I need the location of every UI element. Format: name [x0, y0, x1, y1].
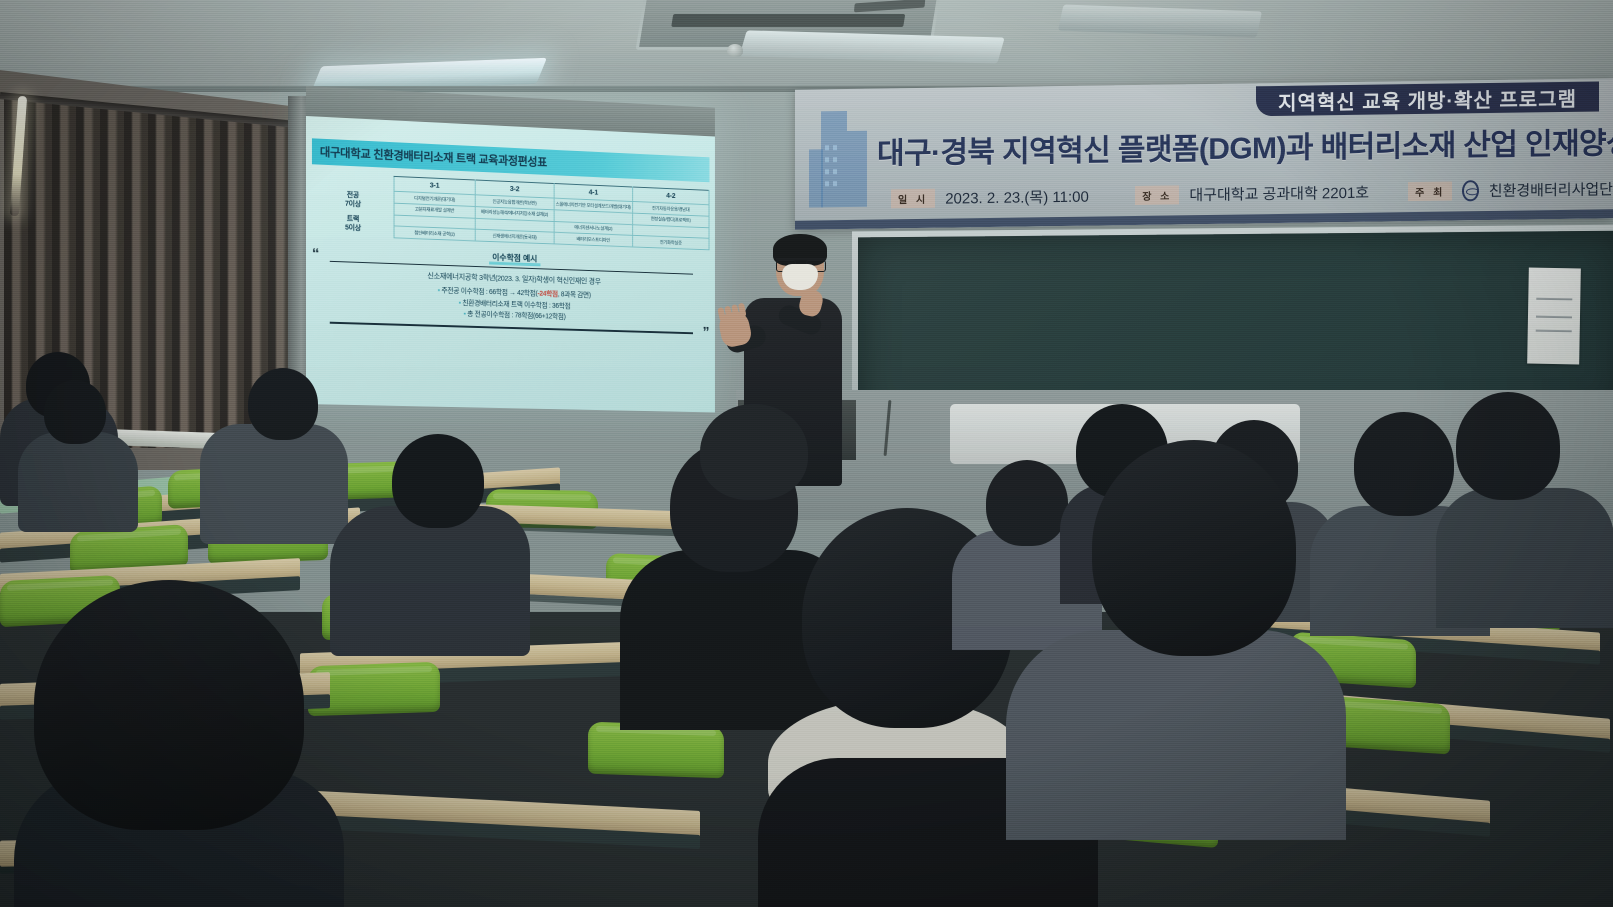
head [392, 434, 484, 528]
banner-program-tag: 지역혁신 교육 개방·확산 프로그램 [1256, 81, 1599, 116]
cell: 신재생에너지개론(동국대) [475, 229, 554, 243]
bullet-text-b: , 8과목 감면) [558, 292, 591, 300]
wall-notice-poster [1527, 268, 1581, 365]
bullet-text-a: 친환경배터리소재 트랙 이수학점 : 36학점 [462, 300, 570, 310]
projection-screen: 대구대학교 친환경배터리소재 트랙 교육과정편성표 3-1 3-2 4-1 4-… [306, 86, 715, 412]
curriculum-table: 3-1 3-2 4-1 4-2 전공7이상 디지털전기개론(대기대) 인공지능융… [312, 172, 710, 250]
row-label-track: 트랙5이상 [312, 211, 394, 237]
date-chip: 일 시 [891, 188, 935, 208]
audience-member [330, 434, 530, 634]
fluorescent-light [1058, 5, 1262, 38]
audience-member [18, 378, 138, 518]
bullet-highlight: -24학점 [537, 291, 557, 298]
banner-info-row: 일 시 2023. 2. 23.(목) 11:00 장 소 대구대학교 공과대학… [891, 174, 1613, 212]
torso [330, 506, 530, 656]
quote-open-icon: “ [312, 249, 319, 260]
host-chip: 주 최 [1408, 181, 1452, 201]
host-value: 친환경배터리사업단 [1489, 178, 1613, 201]
audience-member [1006, 440, 1346, 840]
infinity-circle-logo-icon [1462, 180, 1478, 201]
place-chip: 장 소 [1135, 185, 1179, 205]
cell: 배터리모스트디자인 [554, 232, 632, 246]
audience-member [14, 580, 344, 907]
city-skyline-graphic [803, 105, 881, 210]
place-value: 대구대학교 공과대학 2201호 [1189, 181, 1369, 205]
projected-slide: 대구대학교 친환경배터리소재 트랙 교육과정편성표 3-1 3-2 4-1 4-… [306, 116, 715, 412]
torso [1436, 488, 1613, 628]
bullet-text-a: 주전공 이수학점 : 66학점 → 42학점( [441, 288, 537, 298]
sprinkler-head [727, 44, 743, 57]
cell: 첨단배터리소재 공학(2) [394, 226, 475, 241]
cell: 전기화학실증 [632, 236, 709, 250]
audience-member [200, 368, 350, 528]
head [34, 580, 304, 830]
example-heading-text: 이수학점 예시 [489, 253, 540, 267]
fluorescent-light [739, 30, 1004, 63]
date-value: 2023. 2. 23.(목) 11:00 [945, 185, 1089, 208]
event-banner: 지역혁신 교육 개방·확산 프로그램 대구·경북 지역혁신 플랫폼(DGM)과 … [795, 78, 1613, 229]
audience-member [1436, 392, 1613, 622]
torso [200, 424, 348, 544]
row-label-major: 전공7이상 [312, 188, 394, 215]
torso [18, 432, 138, 532]
head [1092, 440, 1296, 656]
head [248, 368, 318, 440]
head [44, 380, 106, 444]
quote-close-icon: ” [703, 328, 710, 338]
head [1456, 392, 1560, 500]
credit-example-box: 이수학점 예시 “ 신소재에너지공학 3학년(2023. 3. 일자)학생이 혁… [320, 244, 702, 334]
head [700, 404, 808, 500]
torso [1006, 630, 1346, 840]
lecture-hall-photo: 대구대학교 친환경배터리소재 트랙 교육과정편성표 3-1 3-2 4-1 4-… [0, 0, 1613, 907]
banner-title: 대구·경북 지역혁신 플랫폼(DGM)과 배터리소재 산업 인재양성 방안 [877, 118, 1613, 172]
chair [588, 722, 724, 779]
bullet-text-a: 총 전공이수학점 : 78학점(66+12학점) [467, 311, 565, 321]
